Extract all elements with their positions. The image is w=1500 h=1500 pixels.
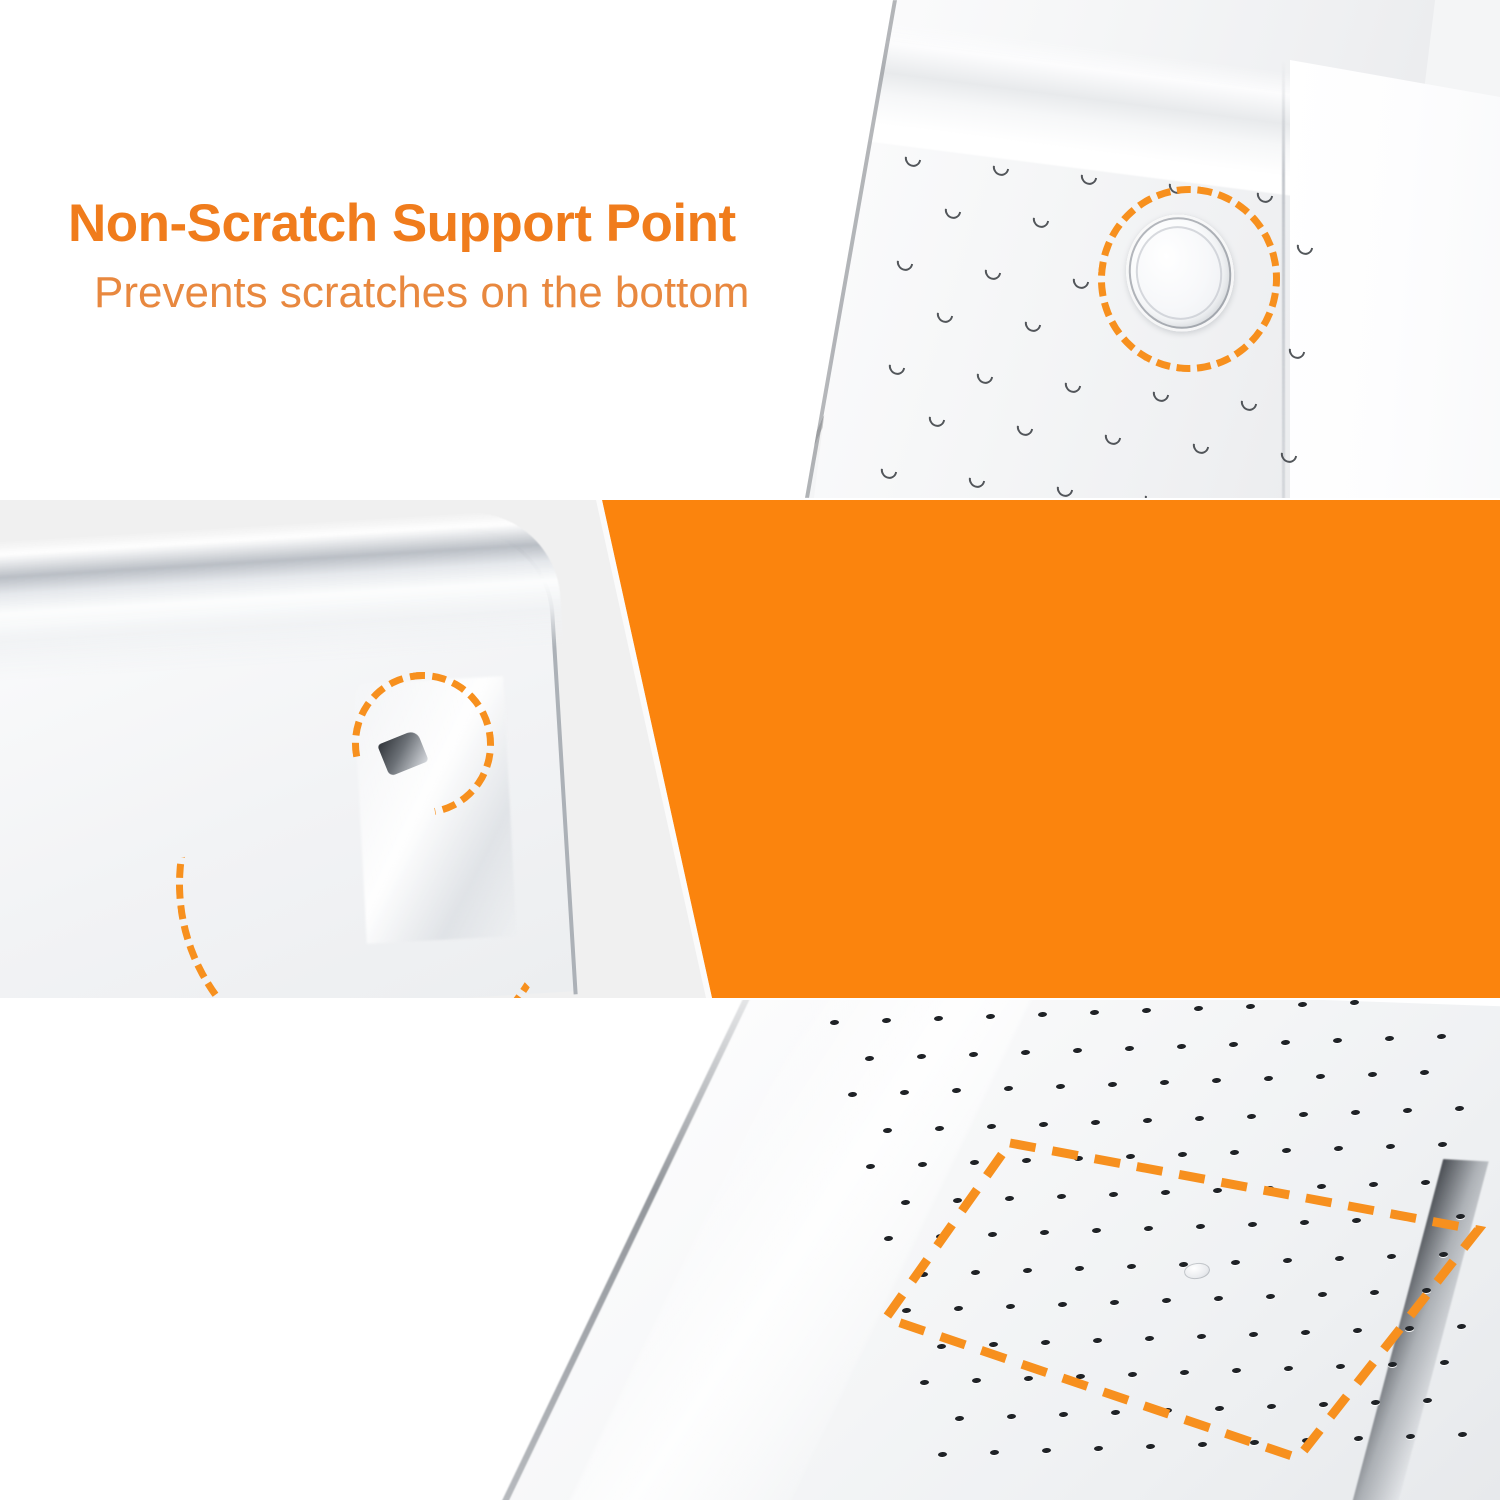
panel-round-corner-design: Round Corner Design Will not scratch the…: [0, 500, 1500, 998]
product-feature-infographic: Non-Scratch Support Point Prevents scrat…: [0, 0, 1500, 1500]
bin-side-face: [1290, 60, 1500, 498]
support-point-subline: Prevents scratches on the bottom: [94, 268, 749, 319]
panel-non-scratch-support-point: Non-Scratch Support Point Prevents scrat…: [0, 0, 1500, 498]
support-point-text-block: Non-Scratch Support Point Prevents scrat…: [68, 196, 749, 318]
support-point-headline: Non-Scratch Support Point: [68, 196, 749, 252]
bin-corner-edge: [1282, 60, 1285, 498]
panel-pet-plastic: PET Plastic ultra-sturdy, so will not cr…: [0, 1000, 1500, 1500]
